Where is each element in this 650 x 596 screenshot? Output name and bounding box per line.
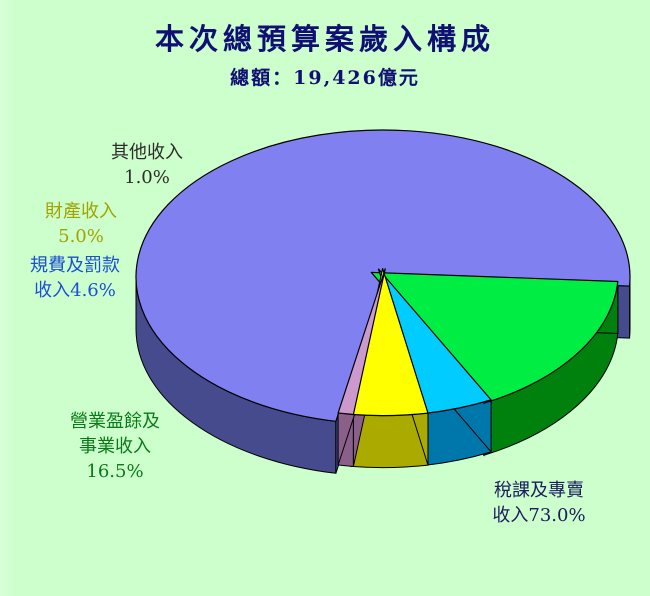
pie-chart	[0, 0, 650, 596]
chart-canvas: 本次總預算案歲入構成 總額：19,426億元 其他收入 1.0% 財產收入 5.…	[0, 0, 650, 596]
